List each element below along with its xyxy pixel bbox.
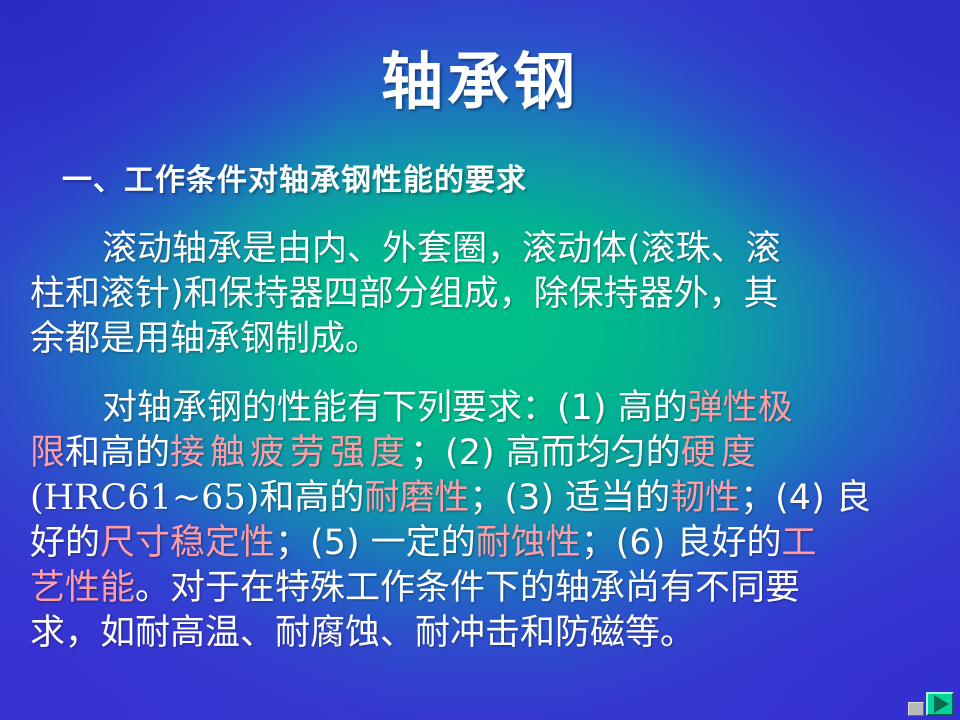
text-line: 好的尺寸稳定性；(5) 一定的耐蚀性；(6) 良好的工 xyxy=(30,521,938,566)
text-run: ；(3) 适当的 xyxy=(469,478,670,518)
text-run: 和高的 xyxy=(65,433,170,473)
emphasis-text-run: 艺性能 xyxy=(30,568,135,608)
text-run: ；(6) 良好的 xyxy=(581,523,782,563)
text-run: 好的 xyxy=(30,523,100,563)
text-run: ；(5) 一定的 xyxy=(275,523,476,563)
emphasis-text-run: 接触疲劳强度 xyxy=(170,433,410,473)
emphasis-text-run: (HRC61~65) xyxy=(30,478,259,518)
text-run: 求，如耐高温、耐腐蚀、耐冲击和防磁等。 xyxy=(30,613,695,653)
emphasis-text-run: 韧性 xyxy=(670,478,740,518)
text-line: 限和高的接触疲劳强度；(2) 高而均匀的硬度 xyxy=(30,431,938,476)
text-line: (HRC61~65)和高的耐磨性；(3) 适当的韧性；(4) 良 xyxy=(30,476,938,521)
slide-navigation-controls[interactable] xyxy=(908,692,954,716)
play-button[interactable] xyxy=(926,692,954,716)
text-line: 对轴承钢的性能有下列要求：(1) 高的弹性极 xyxy=(30,386,938,431)
text-line: 滚动轴承是由内、外套圈，滚动体(滚珠、滚 xyxy=(30,227,938,272)
emphasis-text-run: 弹性极 xyxy=(688,388,793,428)
emphasis-text-run: 限 xyxy=(30,433,65,473)
text-run: 和高的 xyxy=(259,478,364,518)
emphasis-text-run: 硬度 xyxy=(681,433,761,473)
text-run: ；(4) 良 xyxy=(740,478,871,518)
emphasis-text-run: 耐蚀性 xyxy=(476,523,581,563)
text-run: 对轴承钢的性能有下列要求：(1) 高的 xyxy=(102,388,688,428)
nav-placeholder-box xyxy=(908,702,924,716)
text-line: 柱和滚针)和保持器四部分组成，除保持器外，其 xyxy=(30,272,938,317)
play-triangle-icon xyxy=(934,695,949,713)
body-paragraph-two: 对轴承钢的性能有下列要求：(1) 高的弹性极限和高的接触疲劳强度；(2) 高而均… xyxy=(30,386,938,656)
slide-title: 轴承钢 xyxy=(0,46,960,118)
text-run: 滚动轴承是由内、外套圈，滚动体(滚珠、滚 xyxy=(102,229,781,269)
text-run: ；(2) 高而均匀的 xyxy=(410,433,681,473)
body-paragraph-one: 滚动轴承是由内、外套圈，滚动体(滚珠、滚柱和滚针)和保持器四部分组成，除保持器外… xyxy=(30,227,938,362)
text-line: 求，如耐高温、耐腐蚀、耐冲击和防磁等。 xyxy=(30,611,938,656)
emphasis-text-run: 耐磨性 xyxy=(364,478,469,518)
text-run: 余都是用轴承钢制成。 xyxy=(30,319,380,359)
emphasis-text-run: 尺寸稳定性 xyxy=(100,523,275,563)
presentation-slide: 轴承钢 一、工作条件对轴承钢性能的要求 滚动轴承是由内、外套圈，滚动体(滚珠、滚… xyxy=(0,0,960,720)
emphasis-text-run: 工 xyxy=(781,523,816,563)
section-heading: 一、工作条件对轴承钢性能的要求 xyxy=(62,161,527,201)
text-line: 余都是用轴承钢制成。 xyxy=(30,317,938,362)
text-line: 艺性能。对于在特殊工作条件下的轴承尚有不同要 xyxy=(30,566,938,611)
text-run: 。对于在特殊工作条件下的轴承尚有不同要 xyxy=(135,568,800,608)
slide-content: 轴承钢 一、工作条件对轴承钢性能的要求 滚动轴承是由内、外套圈，滚动体(滚珠、滚… xyxy=(0,0,960,720)
text-run: 柱和滚针)和保持器四部分组成，除保持器外，其 xyxy=(30,274,779,314)
